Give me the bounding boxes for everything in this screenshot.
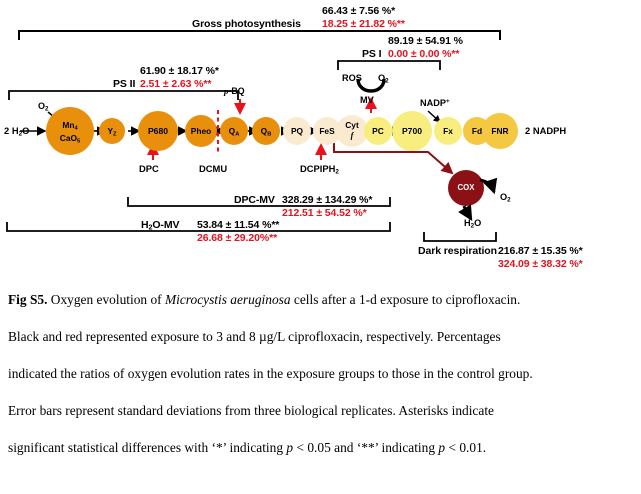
node-p680 xyxy=(138,111,178,151)
mv-label: MV xyxy=(360,95,374,105)
node-fnr xyxy=(482,113,518,149)
nadp-arrow xyxy=(428,111,440,122)
ps2-black-value: 61.90 ± 18.17 %* xyxy=(140,65,219,77)
ps1-label: PS I xyxy=(362,48,381,60)
gross-photosynthesis-black-value: 66.43 ± 7.56 %* xyxy=(322,5,395,17)
ros-label: ROS xyxy=(342,73,362,83)
caption-line-3: indicated the ratios of oxygen evolution… xyxy=(8,367,633,380)
bracket-ps1 xyxy=(338,61,440,70)
ps1-red-value: 0.00 ± 0.00 %** xyxy=(388,48,459,60)
cox-h2o-label: H2O xyxy=(464,218,481,229)
gross-photosynthesis-label: Gross photosynthesis xyxy=(192,18,301,30)
caption-line-1: Fig S5. Oxygen evolution of Microcystis … xyxy=(8,293,633,306)
node-mn4cao5 xyxy=(46,107,94,155)
node-pq xyxy=(283,117,311,145)
dpc-mv-label: DPC-MV xyxy=(234,194,275,206)
node-qb xyxy=(252,117,280,145)
node-p700 xyxy=(392,111,432,151)
cox-o2-label: O2 xyxy=(500,192,511,203)
node-cox xyxy=(448,170,484,206)
dark-respiration-black-value: 216.87 ± 15.35 %* xyxy=(498,245,583,257)
o2-ps1-label: O2 xyxy=(378,73,389,84)
node-pc xyxy=(364,117,392,145)
caption-line-2: Black and red represented exposure to 3 … xyxy=(8,330,633,343)
node-cytf xyxy=(336,115,368,147)
nadp-plus-label: NADP+ xyxy=(420,98,450,108)
water-input-label: 2 H2O xyxy=(4,125,29,137)
ps1-black-value: 89.19 ± 54.91 % xyxy=(388,35,463,47)
dcpiph2-label: DCPIPH2 xyxy=(300,163,339,175)
dpc-mv-red-value: 212.51 ± 54.52 %* xyxy=(282,207,367,219)
figure-diagram: Mn4 CaO5 YZ P680 Pheo QA QB PQ FeS Cyt f… xyxy=(0,0,641,280)
h2o-mv-label: H2O-MV xyxy=(141,219,179,232)
caption-line-5: significant statistical differences with… xyxy=(8,441,633,454)
diagram-svg xyxy=(0,0,641,280)
nadph-output-label: 2 NADPH xyxy=(525,125,566,136)
dpc-label: DPC xyxy=(139,163,159,174)
bracket-dark-respiration xyxy=(424,232,496,241)
h2o-mv-black-value: 53.84 ± 11.54 %** xyxy=(197,219,279,231)
dcmu-label: DCMU xyxy=(199,163,227,174)
dpc-mv-black-value: 328.29 ± 134.29 %* xyxy=(282,194,372,206)
pbq-label: p-BQ xyxy=(224,86,245,96)
dark-respiration-red-value: 324.09 ± 38.32 %* xyxy=(498,258,583,270)
gross-photosynthesis-red-value: 18.25 ± 21.82 %** xyxy=(322,18,405,30)
ps2-red-value: 2.51 ± 2.63 %** xyxy=(140,78,211,90)
o2-psii-label: O2 xyxy=(38,101,48,112)
caption-line-4: Error bars represent standard deviations… xyxy=(8,404,633,417)
dark-respiration-label: Dark respiration xyxy=(418,245,497,257)
ps2-label: PS II xyxy=(113,78,135,90)
node-pheo xyxy=(185,115,217,147)
node-yz xyxy=(99,118,125,144)
h2o-mv-red-value: 26.68 ± 29.20%** xyxy=(197,232,277,244)
node-qa xyxy=(220,117,248,145)
pc-to-cox-path xyxy=(334,143,452,173)
node-fx xyxy=(434,117,462,145)
bracket-ps2 xyxy=(9,91,238,100)
